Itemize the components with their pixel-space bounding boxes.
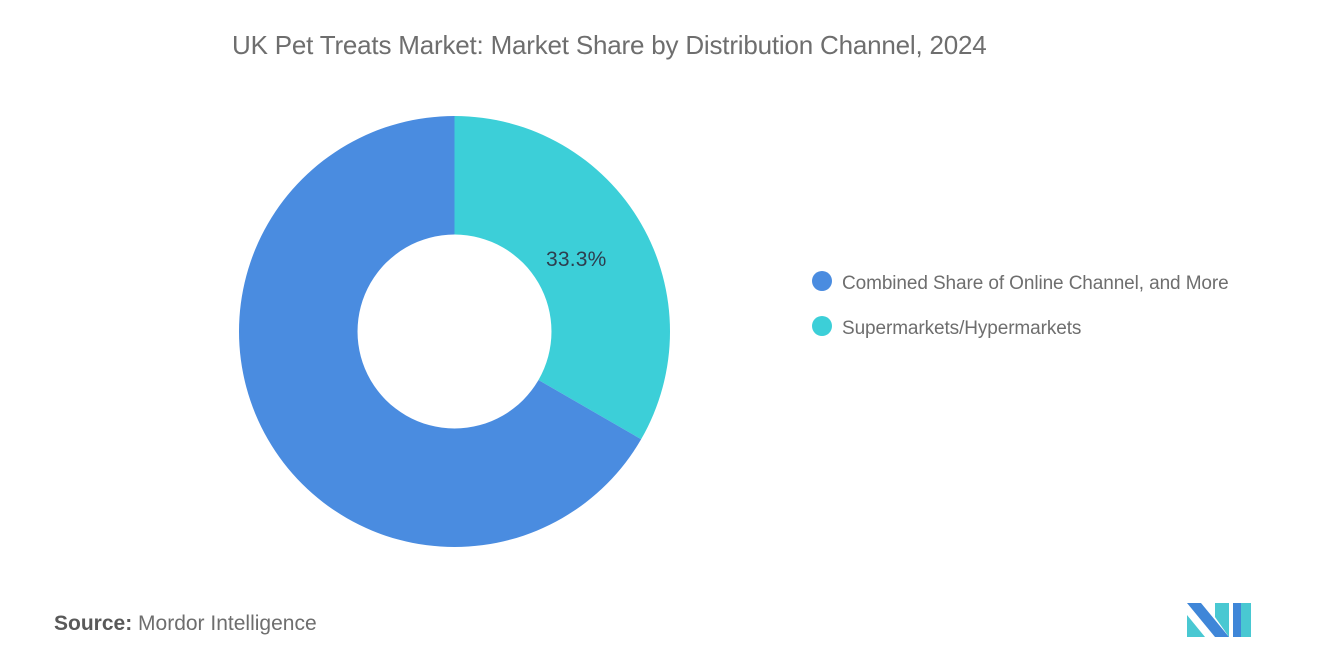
chart-legend: Combined Share of Online Channel, and Mo… [812,268,1272,358]
source-value: Mordor Intelligence [138,612,317,635]
donut-chart-plot-area [239,116,670,547]
source-label: Source: [54,612,132,635]
donut-slice[interactable] [455,116,671,439]
donut-chart-svg [239,116,670,547]
logo-svg [1185,601,1253,639]
legend-item-label: Supermarkets/Hypermarkets [842,313,1081,344]
slice-data-label-supermarkets: 33.3% [546,248,607,272]
legend-item-supermarkets-hypermarkets[interactable]: Supermarkets/Hypermarkets [812,313,1272,344]
chart-figure: UK Pet Treats Market: Market Share by Di… [0,0,1320,665]
mordor-intelligence-logo-icon [1185,601,1253,639]
source-line: Source: Mordor Intelligence [54,612,317,636]
legend-swatch-icon [812,316,832,336]
page-title: UK Pet Treats Market: Market Share by Di… [232,30,1232,61]
legend-item-label: Combined Share of Online Channel, and Mo… [842,268,1229,299]
legend-item-combined-share-online[interactable]: Combined Share of Online Channel, and Mo… [812,268,1272,299]
legend-swatch-icon [812,271,832,291]
donut-slices-group [239,116,670,547]
